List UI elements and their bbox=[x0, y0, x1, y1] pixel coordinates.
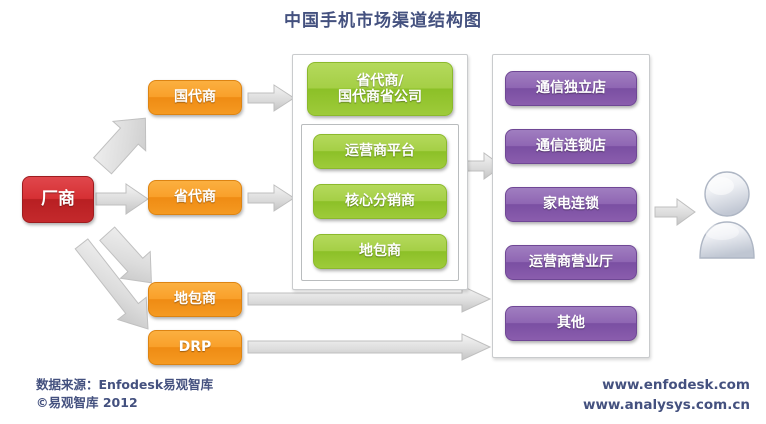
node-telecom-chain-store-label: 通信连锁店 bbox=[536, 138, 606, 154]
node-local-agent[interactable]: 地包商 bbox=[148, 282, 242, 317]
node-appliance-chain-label: 家电连锁 bbox=[543, 196, 599, 212]
url-analysys[interactable]: www.analysys.com.cn bbox=[583, 396, 750, 416]
node-manufacturer-label: 厂商 bbox=[41, 190, 75, 210]
node-manufacturer[interactable]: 厂商 bbox=[22, 176, 94, 223]
node-operator-outlet[interactable]: 运营商营业厅 bbox=[505, 245, 637, 280]
node-national-agent[interactable]: 国代商 bbox=[148, 80, 242, 115]
node-telecom-chain-store[interactable]: 通信连锁店 bbox=[505, 129, 637, 164]
end-user-icon bbox=[694, 168, 760, 260]
page-title: 中国手机市场渠道结构图 bbox=[0, 6, 766, 31]
website-urls: www.enfodesk.com www.analysys.com.cn bbox=[583, 376, 750, 415]
node-operator-platform-label: 运营商平台 bbox=[345, 143, 415, 159]
arrow-tier3-to-user bbox=[655, 198, 695, 226]
diagram-canvas: 中国手机市场渠道结构图 bbox=[0, 0, 766, 424]
node-core-distributor-label: 核心分销商 bbox=[345, 193, 415, 209]
node-operator-platform[interactable]: 运营商平台 bbox=[313, 134, 447, 169]
node-drp[interactable]: DRP bbox=[148, 330, 242, 365]
data-source-line1: 数据来源：Enfodesk易观智库 bbox=[36, 376, 213, 394]
node-tier2-local-agent[interactable]: 地包商 bbox=[313, 234, 447, 269]
node-others[interactable]: 其他 bbox=[505, 306, 637, 341]
node-local-agent-label: 地包商 bbox=[174, 291, 216, 307]
arrow-drp-to-tier3 bbox=[248, 334, 490, 360]
node-tier2-local-agent-label: 地包商 bbox=[359, 243, 401, 259]
node-national-agent-label: 国代商 bbox=[174, 89, 216, 105]
url-enfodesk[interactable]: www.enfodesk.com bbox=[583, 376, 750, 396]
data-source-line2: ©易观智库 2012 bbox=[36, 394, 213, 412]
node-drp-label: DRP bbox=[179, 339, 212, 355]
node-provincial-or-national-branch-label-line1: 省代商/ bbox=[356, 73, 403, 89]
node-others-label: 其他 bbox=[557, 315, 585, 331]
node-provincial-agent[interactable]: 省代商 bbox=[148, 180, 242, 215]
node-appliance-chain[interactable]: 家电连锁 bbox=[505, 187, 637, 222]
node-operator-outlet-label: 运营商营业厅 bbox=[529, 254, 613, 270]
node-core-distributor[interactable]: 核心分销商 bbox=[313, 184, 447, 219]
node-provincial-or-national-branch-label-line2: 国代商省公司 bbox=[338, 89, 422, 105]
data-source: 数据来源：Enfodesk易观智库 ©易观智库 2012 bbox=[36, 376, 213, 412]
node-provincial-or-national-branch[interactable]: 省代商/ 国代商省公司 bbox=[307, 62, 453, 116]
arrow-manufacturer-to-provincial bbox=[96, 182, 148, 216]
arrow-provincial-to-tier2 bbox=[248, 184, 294, 212]
node-provincial-agent-label: 省代商 bbox=[174, 189, 216, 205]
node-telecom-independent-store[interactable]: 通信独立店 bbox=[505, 71, 637, 106]
node-telecom-independent-store-label: 通信独立店 bbox=[536, 80, 606, 96]
arrow-national-to-tier2 bbox=[248, 84, 294, 112]
